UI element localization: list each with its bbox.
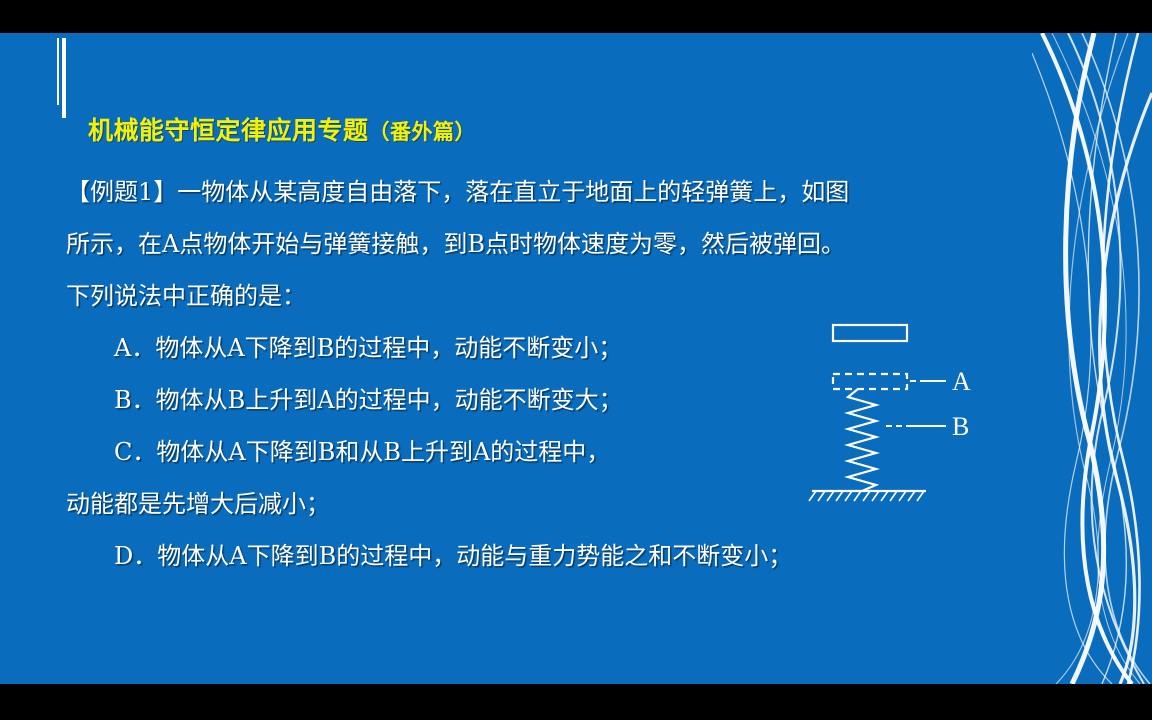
falling-block-rect <box>833 325 907 341</box>
option-d: D．物体从A下降到B的过程中，动能与重力势能之和不断变小； <box>66 530 966 582</box>
question-line-2: 所示，在A点物体开始与弹簧接触，到B点时物体速度为零，然后被弹回。 <box>66 218 966 270</box>
letterbox-top <box>0 0 1152 33</box>
slide-root: 机械能守恒定律应用专题（番外篇） 【例题1】一物体从某高度自由落下，落在直立于地… <box>0 0 1152 720</box>
accent-bar-thin <box>57 38 59 105</box>
ground-hatching <box>809 491 924 501</box>
page-title-paren: （番外篇） <box>369 120 477 144</box>
question-line-1: 【例题1】一物体从某高度自由落下，落在直立于地面上的轻弹簧上，如图 <box>66 166 966 218</box>
label-b: B <box>952 412 969 441</box>
accent-bar-thick <box>62 38 66 118</box>
page-title-main: 机械能守恒定律应用专题 <box>88 116 369 145</box>
title-accent-bars <box>57 38 71 123</box>
spring-coil <box>848 389 876 491</box>
letterbox-bottom <box>0 684 1152 720</box>
decorative-curves <box>1032 33 1152 684</box>
label-a: A <box>952 367 971 396</box>
spring-diagram: A B <box>800 285 980 515</box>
block-at-a-rect <box>833 374 907 389</box>
page-title: 机械能守恒定律应用专题（番外篇） <box>88 111 476 147</box>
slide-canvas: 机械能守恒定律应用专题（番外篇） 【例题1】一物体从某高度自由落下，落在直立于地… <box>0 33 1152 684</box>
